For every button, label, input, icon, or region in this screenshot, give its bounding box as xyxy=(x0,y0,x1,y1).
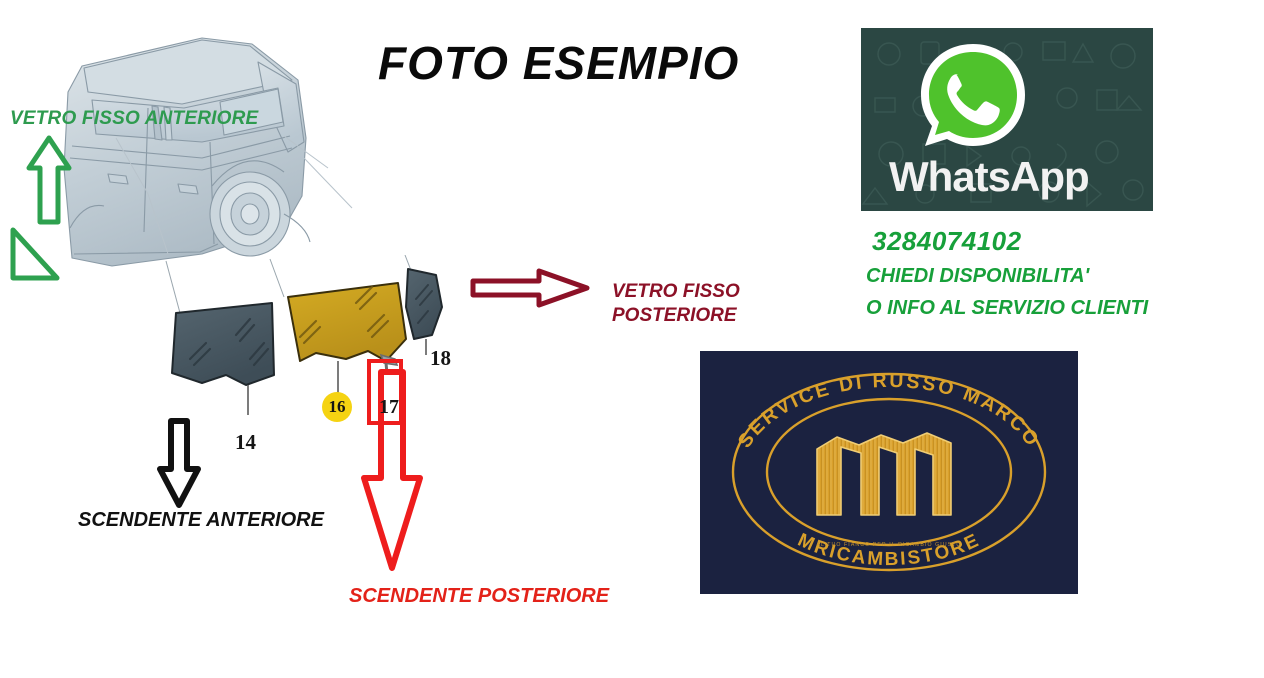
whatsapp-banner: WhatsApp xyxy=(861,28,1153,211)
black-down-arrow-icon xyxy=(155,417,203,509)
green-triangle-icon xyxy=(8,224,62,284)
customer-service-text-line-2: O INFO AL SERVIZIO CLIENTI xyxy=(866,297,1148,320)
part-number-17: 17 xyxy=(379,396,399,419)
availability-text-line-1: CHIEDI DISPONIBILITA' xyxy=(866,265,1089,288)
part-number-16-badge: 16 xyxy=(322,392,352,422)
phone-number[interactable]: 3284074102 xyxy=(872,226,1022,257)
label-rear-drop-glass: SCENDENTE POSTERIORE xyxy=(349,585,609,607)
dark-red-right-arrow-icon xyxy=(469,268,591,308)
page-title: FOTO ESEMPIO xyxy=(378,36,798,90)
whatsapp-logo-icon xyxy=(913,38,1033,158)
green-up-arrow-icon xyxy=(26,134,72,226)
label-front-drop-glass: SCENDENTE ANTERIORE xyxy=(78,509,324,531)
poster-canvas: 14 17 18 16 FOTO ESEMPIO VETRO FISSO ANT… xyxy=(0,0,1264,678)
car-line-drawing xyxy=(52,18,412,278)
part-number-14: 14 xyxy=(235,430,256,455)
part-number-18: 18 xyxy=(430,346,451,371)
label-front-fixed-glass: VETRO FISSO ANTERIORE xyxy=(10,108,258,129)
shop-logo: SERVICE DI RUSSO MARCO MRICAMBISTORE AL … xyxy=(700,351,1078,594)
svg-text:AL TUO FIANCO PER IL RICAMBIO: AL TUO FIANCO PER IL RICAMBIO GIUSTO xyxy=(816,542,961,548)
whatsapp-wordmark: WhatsApp xyxy=(889,153,1129,201)
label-rear-fixed-glass: VETRO FISSO POSTERIORE xyxy=(612,280,740,328)
